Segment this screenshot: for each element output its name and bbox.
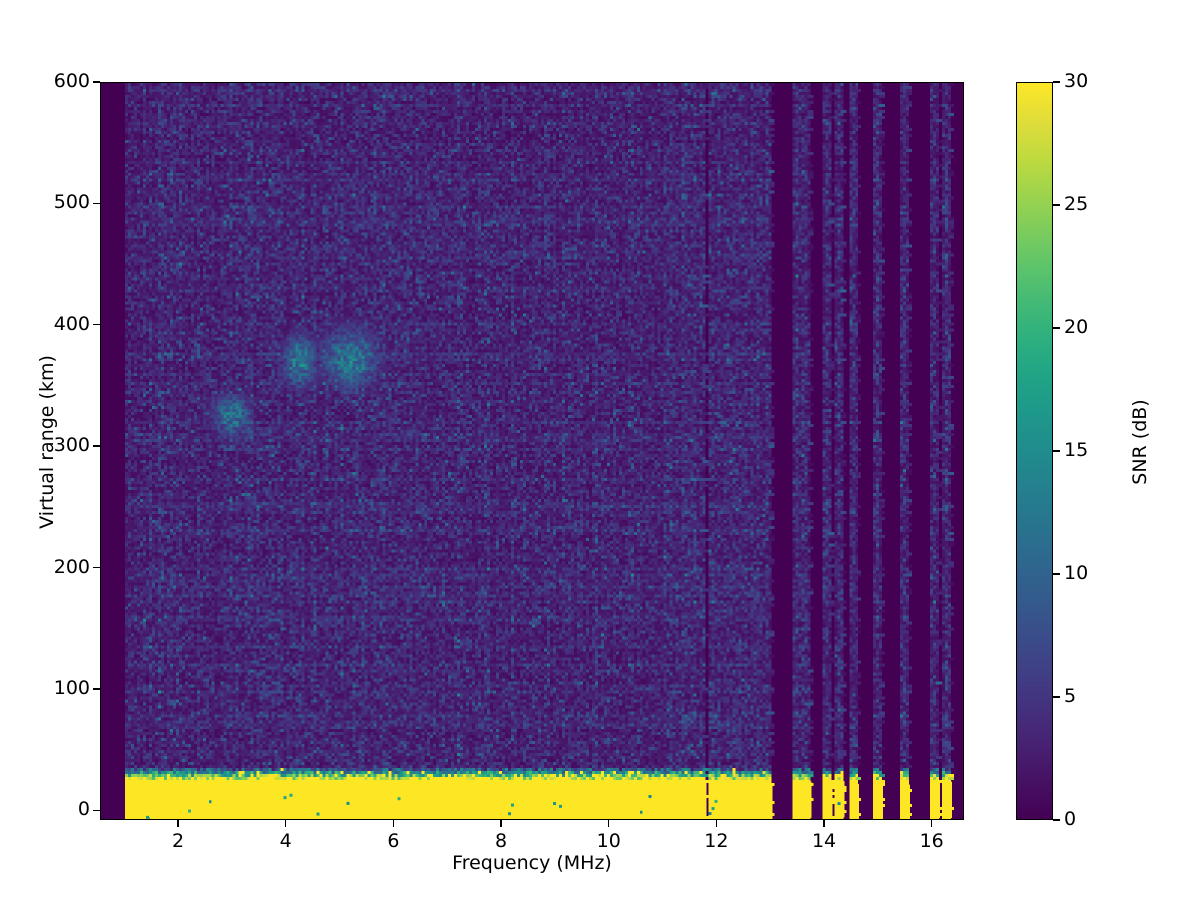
y-tick-mark [93, 810, 100, 811]
colorbar-label: SNR (dB) [1129, 73, 1151, 811]
x-tick-label: 6 [387, 830, 399, 852]
x-tick-label: 8 [495, 830, 507, 852]
colorbar-tick-mark [1053, 819, 1060, 820]
y-tick-label: 200 [54, 556, 90, 578]
x-tick-mark [285, 820, 286, 827]
ionogram-heatmap[interactable] [101, 83, 963, 819]
x-tick-label: 12 [704, 830, 728, 852]
x-tick-mark [500, 820, 501, 827]
x-tick-mark [393, 820, 394, 827]
x-tick-mark [931, 820, 932, 827]
colorbar-tick-label: 20 [1064, 316, 1088, 338]
y-tick-mark [93, 203, 100, 204]
ionogram-figure: IRF Kiruna Ionosonde KI167 2025-10-27 00… [0, 0, 1200, 900]
y-tick-mark [93, 688, 100, 689]
colorbar-ticks: 051015202530 [1053, 82, 1133, 820]
y-tick-label: 400 [54, 313, 90, 335]
x-tick-label: 2 [172, 830, 184, 852]
x-tick-mark [177, 820, 178, 827]
x-tick-label: 4 [280, 830, 292, 852]
colorbar-tick-mark [1053, 327, 1060, 328]
colorbar-tick-mark [1053, 204, 1060, 205]
colorbar-tick-label: 15 [1064, 439, 1088, 461]
colorbar-gradient [1017, 83, 1052, 819]
x-tick-mark [823, 820, 824, 827]
y-tick-label: 500 [54, 191, 90, 213]
colorbar-tick-label: 5 [1064, 685, 1076, 707]
y-tick-mark [93, 567, 100, 568]
x-tick-label: 10 [597, 830, 621, 852]
colorbar-tick-mark [1053, 573, 1060, 574]
y-tick-label: 0 [78, 798, 90, 820]
x-tick-mark [716, 820, 717, 827]
y-tick-mark [93, 81, 100, 82]
colorbar[interactable] [1016, 82, 1053, 820]
x-axis-label: Frequency (MHz) [100, 852, 964, 874]
y-tick-label: 100 [54, 677, 90, 699]
ionogram-plot-area[interactable] [100, 82, 964, 820]
x-tick-mark [608, 820, 609, 827]
colorbar-tick-label: 30 [1064, 70, 1088, 92]
y-tick-label: 300 [54, 434, 90, 456]
x-tick-label: 16 [920, 830, 944, 852]
y-tick-mark [93, 324, 100, 325]
colorbar-tick-mark [1053, 81, 1060, 82]
y-tick-mark [93, 445, 100, 446]
y-tick-label: 600 [54, 70, 90, 92]
colorbar-tick-label: 25 [1064, 193, 1088, 215]
colorbar-tick-mark [1053, 450, 1060, 451]
colorbar-tick-label: 10 [1064, 562, 1088, 584]
x-tick-label: 14 [812, 830, 836, 852]
colorbar-tick-label: 0 [1064, 808, 1076, 830]
y-axis-label: Virtual range (km) [36, 73, 58, 811]
colorbar-tick-mark [1053, 696, 1060, 697]
